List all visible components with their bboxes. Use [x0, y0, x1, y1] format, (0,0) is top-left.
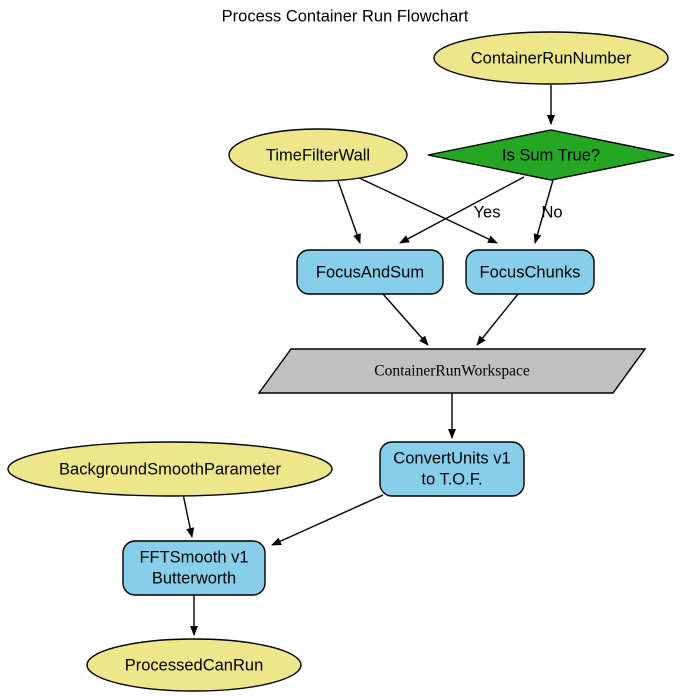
node-containerrunworkspace[interactable]: ContainerRunWorkspace: [259, 349, 645, 393]
flowchart-canvas: Process Container Run Flowchart: [0, 0, 685, 697]
node-label-issumtrue: Is Sum True?: [502, 146, 600, 164]
node-label-convertunits-line1: ConvertUnits v1: [393, 449, 510, 467]
edge-timefilterwall-to-focusandsum: [337, 178, 360, 243]
node-timefilterwall[interactable]: TimeFilterWall: [229, 129, 407, 181]
edge-issumtrue-to-focusandsum: [400, 177, 524, 243]
nodes-layer: ContainerRunNumber TimeFilterWall Is Sum…: [8, 32, 674, 691]
node-containerrunnumber[interactable]: ContainerRunNumber: [434, 32, 668, 84]
node-processedcanrun[interactable]: ProcessedCanRun: [87, 639, 301, 691]
page-title: Process Container Run Flowchart: [222, 7, 469, 25]
node-label-processedcanrun: ProcessedCanRun: [125, 656, 264, 674]
node-convertunits[interactable]: ConvertUnits v1 to T.O.F.: [380, 442, 524, 496]
edge-label-yes: Yes: [474, 203, 501, 221]
node-issumtrue[interactable]: Is Sum True?: [428, 130, 674, 180]
edge-backgroundsmooth-to-fftsmooth: [183, 494, 192, 537]
node-label-fftsmooth-line1: FFTSmooth v1: [139, 548, 248, 566]
node-label-focuschunks: FocusChunks: [480, 263, 581, 281]
edge-focusandsum-to-workspace: [383, 294, 428, 345]
node-label-containerrunworkspace: ContainerRunWorkspace: [374, 363, 530, 380]
node-focuschunks[interactable]: FocusChunks: [466, 250, 594, 294]
node-fftsmooth[interactable]: FFTSmooth v1 Butterworth: [123, 541, 265, 595]
edge-focuschunks-to-workspace: [477, 294, 518, 345]
flowchart-svg: Process Container Run Flowchart: [0, 0, 685, 697]
edge-label-no: No: [541, 203, 562, 221]
edge-convertunits-to-fftsmooth: [272, 495, 383, 545]
node-label-containerrunnumber: ContainerRunNumber: [471, 49, 632, 67]
node-label-fftsmooth-line2: Butterworth: [152, 569, 236, 587]
node-label-convertunits-line2: to T.O.F.: [421, 470, 482, 488]
node-label-timefilterwall: TimeFilterWall: [266, 146, 370, 164]
node-label-focusandsum: FocusAndSum: [316, 263, 424, 281]
node-focusandsum[interactable]: FocusAndSum: [297, 250, 443, 294]
edge-labels-layer: Yes No: [474, 203, 563, 221]
node-label-backgroundsmoothparameter: BackgroundSmoothParameter: [59, 460, 281, 478]
node-backgroundsmoothparameter[interactable]: BackgroundSmoothParameter: [8, 442, 332, 496]
